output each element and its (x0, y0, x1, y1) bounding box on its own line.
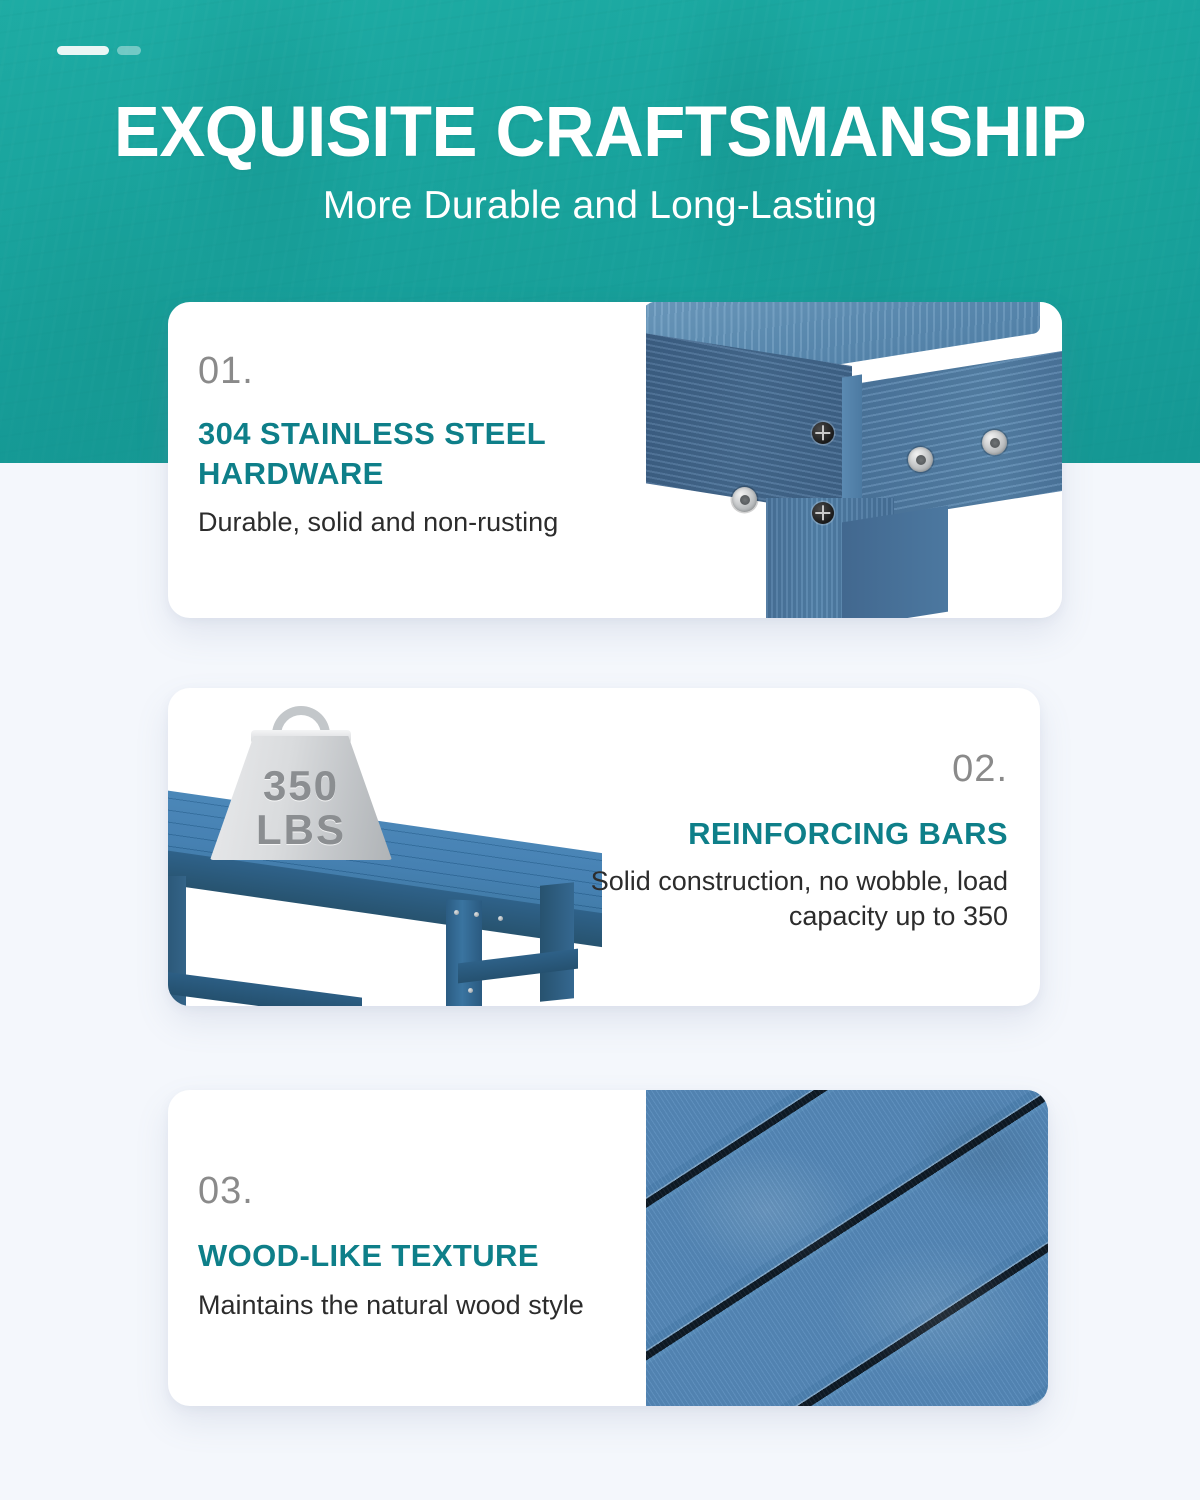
feature-headline: REINFORCING BARS (538, 814, 1008, 854)
bench-reinforcing-bar-left (168, 970, 362, 1006)
bench-screw-icon (468, 988, 473, 993)
table-leg-side (842, 506, 948, 618)
pagination-indicator[interactable] (57, 46, 141, 55)
pagination-dot-inactive[interactable] (117, 46, 141, 55)
weight-block-icon: 350 LBS (210, 708, 392, 860)
feature-card-1-text: 01. 304 STAINLESS STEEL HARDWARE Durable… (198, 352, 668, 540)
table-corner-image (646, 302, 1062, 618)
stainless-bolt-icon (732, 487, 757, 512)
page-subtitle: More Durable and Long-Lasting (0, 184, 1200, 228)
feature-description: Solid construction, no wobble, load capa… (538, 864, 1008, 934)
bench-screw-icon (474, 912, 479, 917)
phillips-screw-icon (812, 502, 834, 524)
pagination-dot-active[interactable] (57, 46, 109, 55)
phillips-screw-icon (812, 422, 834, 444)
feature-description: Maintains the natural wood style (198, 1288, 678, 1323)
feature-card-1: 01. 304 STAINLESS STEEL HARDWARE Durable… (168, 302, 1062, 618)
wood-texture-image (646, 1090, 1048, 1406)
feature-card-2: 350 LBS 02. REINFORCING BARS Solid const… (168, 688, 1040, 1006)
page-title: EXQUISITE CRAFTSMANSHIP (18, 96, 1182, 171)
feature-description: Durable, solid and non-rusting (198, 505, 668, 540)
feature-number: 02. (538, 750, 1008, 788)
stainless-bolt-icon (908, 447, 933, 472)
feature-card-3: 03. WOOD-LIKE TEXTURE Maintains the natu… (168, 1090, 1048, 1406)
bench-screw-icon (498, 916, 503, 921)
feature-headline: 304 STAINLESS STEEL HARDWARE (198, 414, 668, 493)
feature-card-2-text: 02. REINFORCING BARS Solid construction,… (538, 750, 1008, 934)
feature-number: 03. (198, 1172, 678, 1210)
weight-value: 350 (210, 762, 392, 810)
feature-number: 01. (198, 352, 668, 390)
feature-card-3-text: 03. WOOD-LIKE TEXTURE Maintains the natu… (198, 1172, 678, 1323)
feature-headline: WOOD-LIKE TEXTURE (198, 1236, 678, 1276)
bench-screw-icon (454, 910, 459, 915)
weight-unit: LBS (210, 806, 392, 854)
stainless-bolt-icon (982, 430, 1007, 455)
